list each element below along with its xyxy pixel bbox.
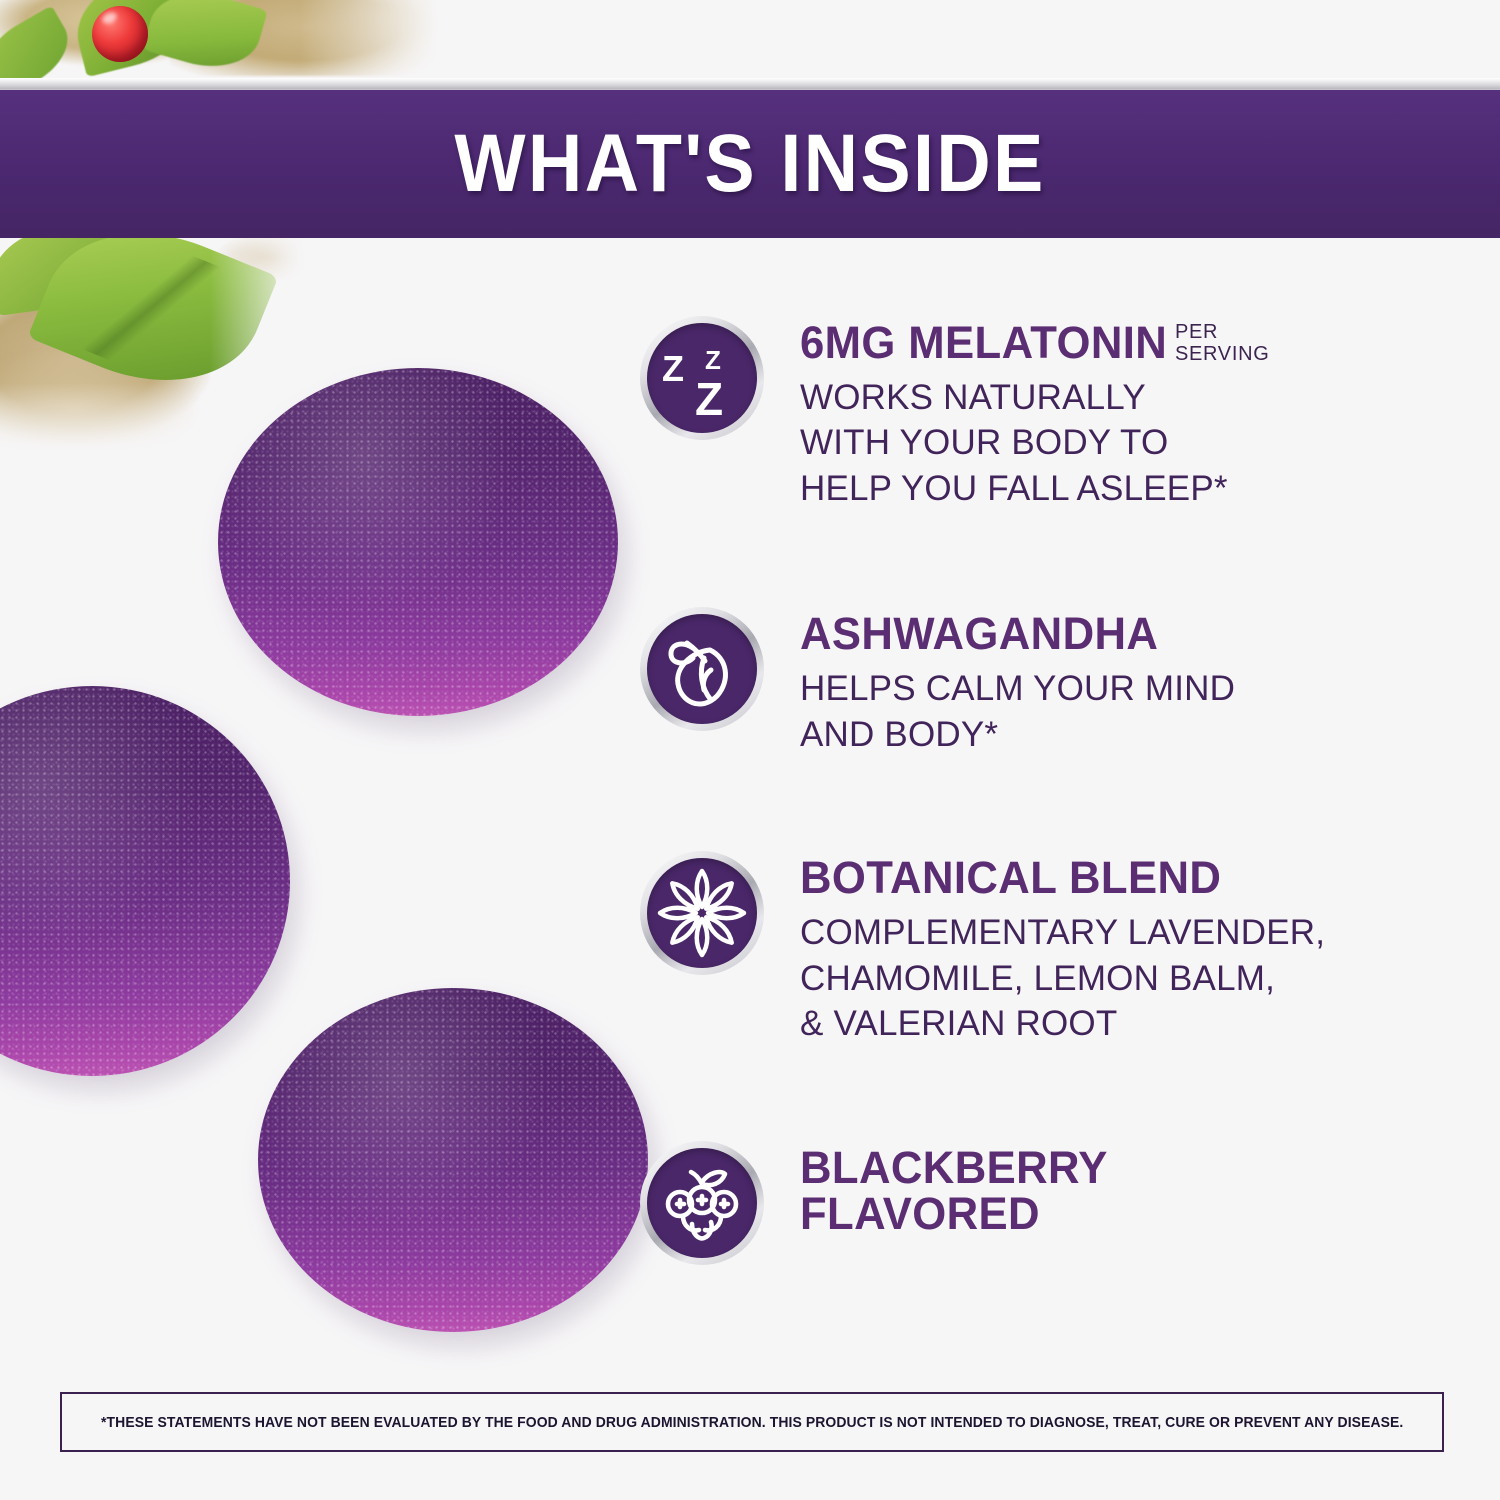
blackberry-icon bbox=[640, 1141, 764, 1265]
svg-text:Z: Z bbox=[705, 345, 721, 375]
feature-text: ASHWAGANDHA HELPS CALM YOUR MIND AND BOD… bbox=[800, 605, 1235, 757]
feature-item-ashwagandha: ASHWAGANDHA HELPS CALM YOUR MIND AND BOD… bbox=[640, 605, 1470, 757]
feature-heading: BOTANICAL BLEND bbox=[800, 855, 1309, 901]
page-title: WHAT'S INSIDE bbox=[60, 90, 1440, 238]
icon-disc bbox=[647, 858, 757, 968]
feature-item-melatonin: Z Z Z 6MG MELATONINPER SERVING WORKS NAT… bbox=[640, 314, 1470, 511]
feature-heading-text: ASHWAGANDHA bbox=[800, 608, 1158, 659]
feature-item-botanical: BOTANICAL BLEND COMPLEMENTARY LAVENDER, … bbox=[640, 849, 1470, 1046]
red-berry-icon bbox=[92, 6, 148, 62]
infographic-canvas: WHAT'S INSIDE Z Z Z bbox=[0, 0, 1500, 1500]
feature-text: BLACKBERRY FLAVORED bbox=[800, 1139, 1117, 1237]
icon-disc bbox=[647, 1148, 757, 1258]
feature-heading: BLACKBERRY FLAVORED bbox=[800, 1145, 1108, 1237]
top-plant-photo bbox=[0, 0, 470, 80]
disclaimer-text: *THESE STATEMENTS HAVE NOT BEEN EVALUATE… bbox=[101, 1414, 1403, 1431]
feature-text: 6MG MELATONINPER SERVING WORKS NATURALLY… bbox=[800, 314, 1282, 511]
feature-body: HELPS CALM YOUR MIND AND BODY* bbox=[800, 666, 1235, 757]
feature-text: BOTANICAL BLEND COMPLEMENTARY LAVENDER, … bbox=[800, 849, 1325, 1046]
header-banner: WHAT'S INSIDE bbox=[0, 90, 1500, 238]
icon-disc bbox=[647, 614, 757, 724]
icon-disc: Z Z Z bbox=[647, 323, 757, 433]
feature-item-blackberry: BLACKBERRY FLAVORED bbox=[640, 1139, 1470, 1265]
feature-body: WORKS NATURALLY WITH YOUR BODY TO HELP Y… bbox=[800, 375, 1282, 512]
per-serving-note: PER SERVING bbox=[1175, 322, 1269, 365]
svg-text:Z: Z bbox=[662, 348, 684, 389]
svg-text:Z: Z bbox=[695, 373, 723, 425]
botanical-flower-icon bbox=[640, 851, 764, 975]
feature-heading: ASHWAGANDHA bbox=[800, 611, 1222, 657]
gummy-bottom bbox=[258, 988, 648, 1332]
feature-heading-text: 6MG MELATONIN bbox=[800, 317, 1167, 368]
photo-fade bbox=[300, 0, 470, 80]
gummy-top bbox=[218, 368, 618, 716]
feature-body: COMPLEMENTARY LAVENDER, CHAMOMILE, LEMON… bbox=[800, 910, 1325, 1047]
disclaimer-box: *THESE STATEMENTS HAVE NOT BEEN EVALUATE… bbox=[60, 1392, 1444, 1452]
feature-heading-text: BLACKBERRY FLAVORED bbox=[800, 1142, 1108, 1239]
gummy-middle bbox=[0, 686, 290, 1076]
feature-heading-text: BOTANICAL BLEND bbox=[800, 852, 1221, 903]
feature-list: Z Z Z 6MG MELATONINPER SERVING WORKS NAT… bbox=[640, 300, 1470, 1265]
zzz-sleep-icon: Z Z Z bbox=[640, 316, 764, 440]
ashwagandha-leaf-icon bbox=[640, 607, 764, 731]
feature-heading: 6MG MELATONINPER SERVING bbox=[800, 320, 1268, 366]
